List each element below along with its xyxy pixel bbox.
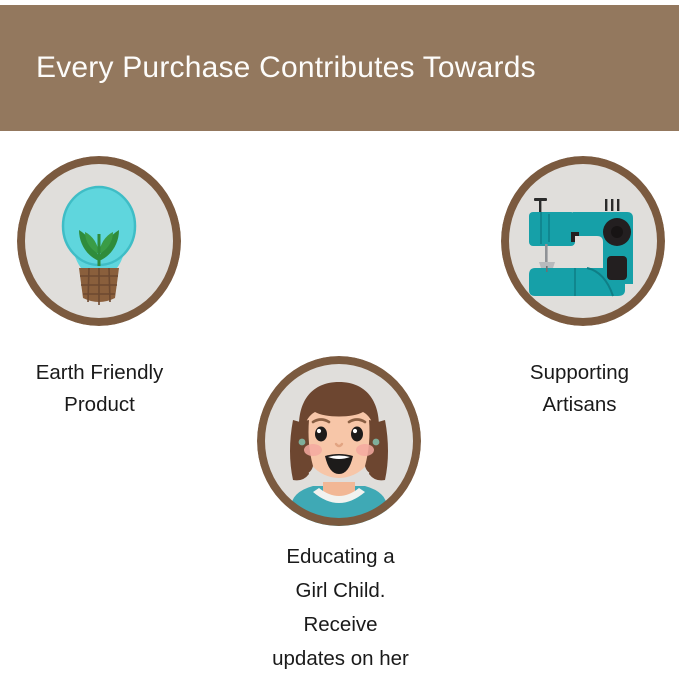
feature-badge-earth-friendly <box>17 156 181 326</box>
feature-caption-girl-child: Educating a Girl Child. Receive updates … <box>228 540 453 676</box>
feature-badge-girl-child <box>257 356 421 526</box>
sewing-machine-icon <box>501 156 665 326</box>
feature-caption-supporting-artisans: Supporting Artisans <box>480 357 679 421</box>
feature-badge-supporting-artisans <box>501 156 665 326</box>
feature-caption-earth-friendly: Earth Friendly Product <box>0 357 199 421</box>
banner-title: Every Purchase Contributes Towards <box>36 51 536 85</box>
girl-child-icon <box>257 356 421 526</box>
lightbulb-plant-icon <box>17 156 181 326</box>
header-banner: Every Purchase Contributes Towards <box>0 5 679 131</box>
